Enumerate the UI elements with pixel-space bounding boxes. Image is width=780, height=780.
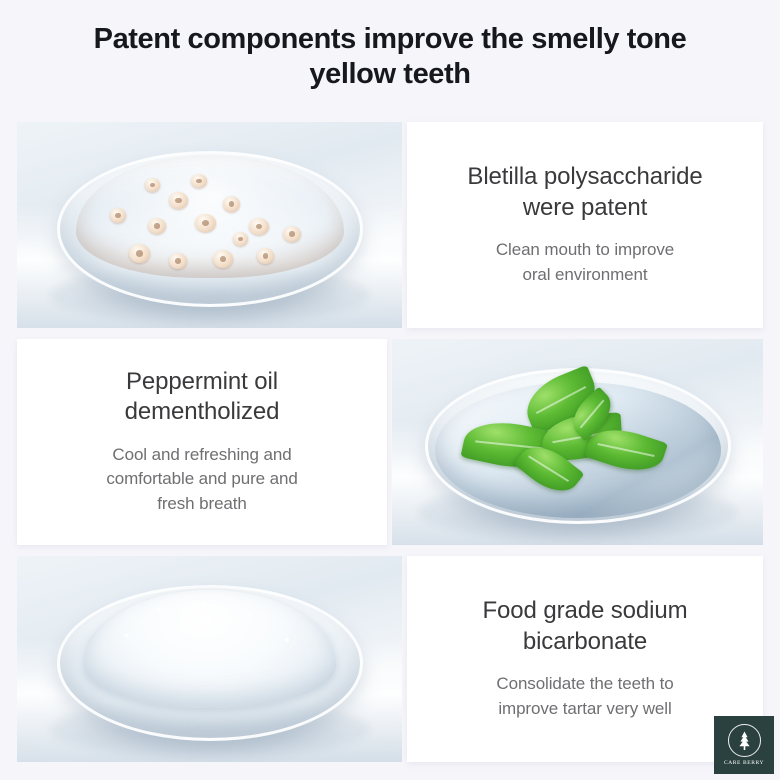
root-chip [283,226,301,242]
root-chip [145,178,160,192]
powder-grain [249,614,252,617]
feature-body-line-2: improve tartar very well [498,699,671,718]
feature-heading-line-2: dementholized [125,398,280,425]
root-chip [233,232,248,246]
root-chip [148,218,166,234]
feature-heading-line-1: Food grade sodium [482,597,687,624]
powder-grain [285,638,289,642]
powder-grain [157,608,160,611]
root-chip [213,250,233,268]
feature-image-peppermint [392,339,763,545]
feature-heading-line-2: bicarbonate [523,628,647,655]
root-chip [223,196,240,212]
feature-text-sodium-bicarbonate: Food grade sodium bicarbonate Consolidat… [407,556,763,762]
feature-heading-line-1: Peppermint oil [126,368,278,395]
root-chip [169,192,188,209]
feature-heading-line-2: were patent [523,194,647,221]
root-chip [110,208,126,223]
powder-photo [17,556,402,762]
feature-row-sodium-bicarbonate: Food grade sodium bicarbonate Consolidat… [17,556,763,762]
feature-heading-bletilla: Bletilla polysaccharide were patent [467,162,702,222]
feature-image-bletilla [17,122,402,328]
root-chip [129,244,150,263]
root-chip [249,218,269,235]
feature-heading-peppermint: Peppermint oil dementholized [125,367,280,427]
feature-heading-line-1: Bletilla polysaccharide [467,163,702,190]
pine-tree-icon [728,724,761,757]
feature-body-line-1: Consolidate the teeth to [496,674,673,693]
powder-grain [125,634,128,637]
root-chip [191,174,207,188]
feature-row-peppermint: Peppermint oil dementholized Cool and re… [17,339,763,545]
root-chip [195,214,216,232]
feature-text-peppermint: Peppermint oil dementholized Cool and re… [17,339,387,545]
feature-body-peppermint: Cool and refreshing and comfortable and … [106,443,297,517]
feature-body-line-2: comfortable and pure and [106,469,297,488]
feature-heading-sodium-bicarbonate: Food grade sodium bicarbonate [482,596,687,656]
feature-body-line-2: oral environment [522,265,647,284]
feature-body-bletilla: Clean mouth to improve oral environment [496,238,674,288]
feature-image-sodium-bicarbonate [17,556,402,762]
root-chip [169,253,187,269]
feature-grid: Bletilla polysaccharide were patent Clea… [17,122,763,762]
feature-body-line-1: Cool and refreshing and [112,445,291,464]
page-title-line-1: Patent components improve the smelly ton… [40,22,740,57]
brand-name: CARE BERRY [724,760,764,766]
feature-row-bletilla: Bletilla polysaccharide were patent Clea… [17,122,763,328]
root-slices-photo [17,122,402,328]
feature-body-sodium-bicarbonate: Consolidate the teeth to improve tartar … [496,672,673,722]
feature-body-line-1: Clean mouth to improve [496,240,674,259]
mint-leaves-photo [392,339,763,545]
brand-logo-badge: CARE BERRY [714,716,774,774]
feature-text-bletilla: Bletilla polysaccharide were patent Clea… [407,122,763,328]
page-title: Patent components improve the smelly ton… [0,0,780,99]
powder-grain [203,602,207,606]
page-title-line-2: yellow teeth [40,57,740,92]
feature-body-line-3: fresh breath [157,494,247,513]
root-chip [257,248,274,264]
